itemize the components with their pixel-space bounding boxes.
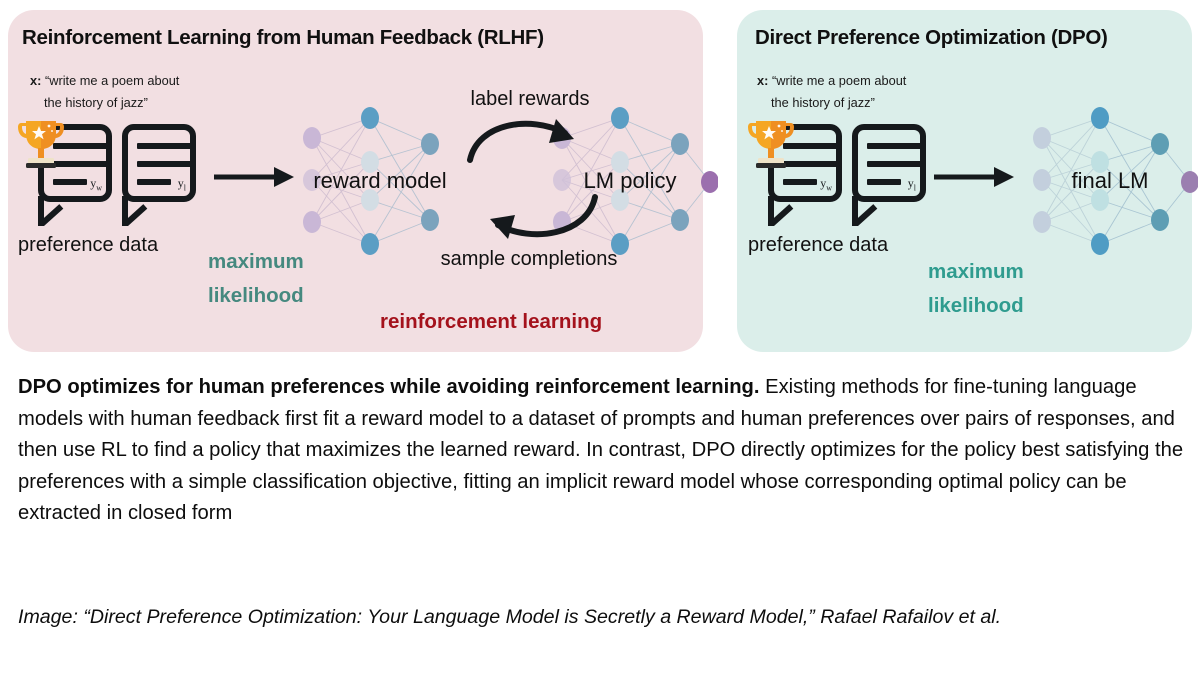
preference-data-group-rlhf: yw › yl preference data [18,118,194,230]
cycle-label-sample-completions: sample completions [404,248,654,271]
bubble-tail [122,196,128,226]
preference-data-label-rlhf: preference data [18,234,158,257]
bubble-label-yl-dpo: yl [908,176,916,192]
figure-container: Reinforcement Learning from Human Feedba… [0,0,1200,360]
prompt-line2-rlhf: the history of jazz” [30,92,179,114]
preference-data-label-dpo: preference data [748,234,888,257]
preference-bubbles-dpo: yw › yl [748,118,924,230]
caption-body: Existing methods for fine-tuning languag… [18,376,1183,524]
trophy-icon [748,116,794,168]
note-maximum-likelihood-line1-rlhf: maximum [208,250,304,273]
arrow-right-icon-rlhf [212,162,298,192]
panel-rlhf-title: Reinforcement Learning from Human Feedba… [22,26,544,50]
network-reward-model: reward model [292,100,468,262]
note-maximum-likelihood-dpo: maximum likelihood [928,255,1024,323]
cycle-label-label-rewards: label rewards [430,88,630,111]
prompt-rlhf: x: “write me a poem about the history of… [30,70,179,114]
comparator-greater-than-dpo: › [836,154,843,179]
preference-bubbles-rlhf: yw › yl [18,118,194,230]
trophy-icon [18,116,64,168]
note-maximum-likelihood-line1-dpo: maximum [928,260,1024,283]
bubble-label-yl-rlhf: yl [178,176,186,192]
note-maximum-likelihood-line2-rlhf: likelihood [208,284,304,307]
caption-bold-lead: DPO optimizes for human preferences whil… [18,376,760,398]
bubble-label-yw-dpo: yw [820,176,832,192]
prompt-variable-dpo: x: [757,73,772,88]
bubble-tail [852,196,858,226]
note-maximum-likelihood-line2-dpo: likelihood [928,294,1024,317]
note-maximum-likelihood-rlhf: maximum likelihood [208,245,304,313]
prompt-variable-rlhf: x: [30,73,45,88]
bubble-label-yw-rlhf: yw [90,176,102,192]
prompt-dpo: x: “write me a poem about the history of… [757,70,906,114]
panel-dpo-title: Direct Preference Optimization (DPO) [755,26,1108,50]
bubble-tail [38,196,44,226]
prompt-line2-dpo: the history of jazz” [757,92,906,114]
preference-bubble-loser-rlhf: yl [122,124,196,202]
comparator-greater-than-rlhf: › [106,154,113,179]
bubble-tail [768,196,774,226]
caption-paragraph: DPO optimizes for human preferences whil… [18,372,1186,530]
cycle-arrows-icon [460,85,605,275]
prompt-line1-dpo: “write me a poem about [772,73,906,88]
preference-bubble-loser-dpo: yl [852,124,926,202]
prompt-line1-rlhf: “write me a poem about [45,73,179,88]
network-final-lm: final LM [1022,100,1198,262]
preference-data-group-dpo: yw › yl preference data [748,118,924,230]
arrow-right-icon-dpo [932,162,1018,192]
note-reinforcement-learning: reinforcement learning [380,305,602,339]
image-credit: Image: “Direct Preference Optimization: … [18,603,1178,632]
